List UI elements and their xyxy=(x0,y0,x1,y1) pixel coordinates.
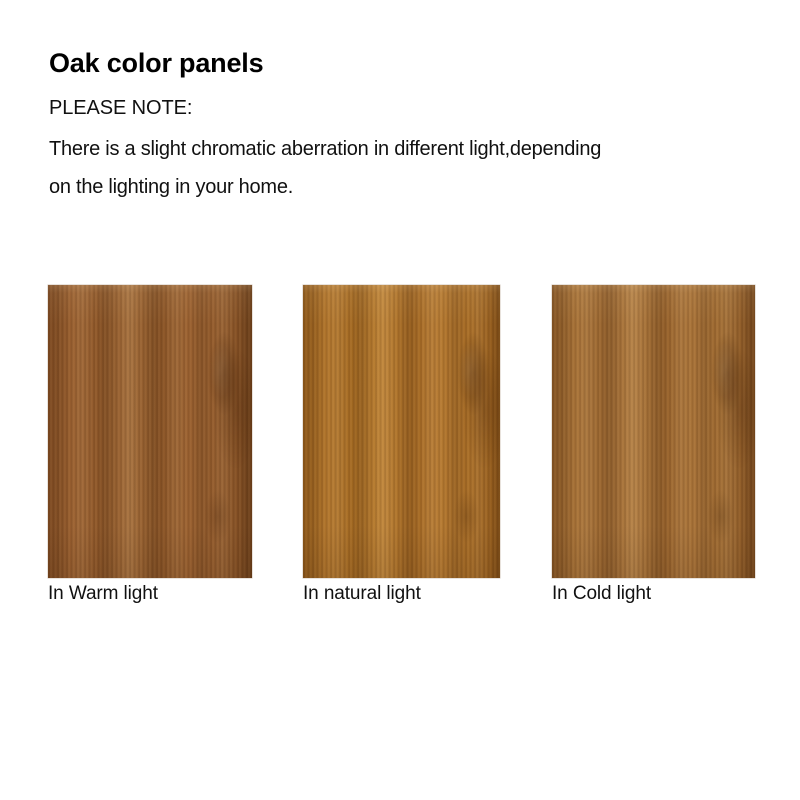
panel-label-cold: In Cold light xyxy=(552,581,651,607)
swatch-edge-vignette-natural xyxy=(303,285,500,578)
note-body: There is a slight chromatic aberration i… xyxy=(49,130,739,206)
please-note-label: PLEASE NOTE: xyxy=(49,94,749,122)
wood-swatch-warm xyxy=(48,285,252,578)
info-text-block: Oak color panels PLEASE NOTE: There is a… xyxy=(49,46,749,206)
panel-cell-natural: In natural light xyxy=(303,285,500,578)
note-body-line-1: There is a slight chromatic aberration i… xyxy=(49,130,739,168)
page-title: Oak color panels xyxy=(49,46,749,80)
page-root: Oak color panels PLEASE NOTE: There is a… xyxy=(0,0,800,800)
swatch-edge-vignette-warm xyxy=(48,285,252,578)
swatch-edge-vignette-cold xyxy=(552,285,755,578)
color-panels-row: In Warm light In natural light xyxy=(0,285,800,625)
panel-label-warm: In Warm light xyxy=(48,581,158,607)
note-body-line-2: on the lighting in your home. xyxy=(49,168,739,206)
panel-cell-warm: In Warm light xyxy=(48,285,252,578)
wood-swatch-cold xyxy=(552,285,755,578)
panel-label-natural: In natural light xyxy=(303,581,421,607)
wood-swatch-natural xyxy=(303,285,500,578)
panel-cell-cold: In Cold light xyxy=(552,285,755,578)
